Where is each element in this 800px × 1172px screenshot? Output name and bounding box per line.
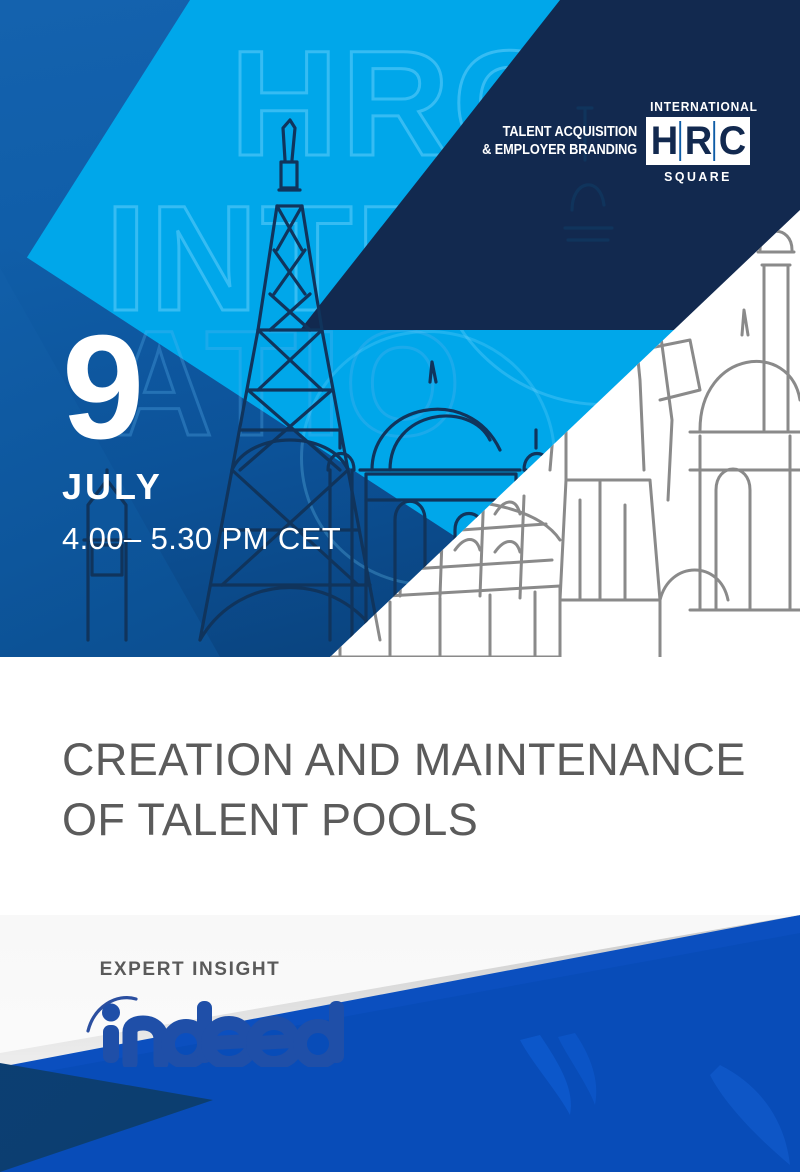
event-poster: HRC INTERN ATIO — [0, 0, 800, 1172]
event-month: JULY — [62, 469, 341, 505]
event-date-block: 9 JULY 4.00– 5.30 PM CET — [62, 330, 341, 554]
logo-tagline: TALENT ACQUISITION & EMPLOYER BRANDING — [482, 124, 637, 159]
event-title: CREATION AND MAINTENANCE OF TALENT POOLS — [62, 730, 752, 850]
event-day-number: 9 — [62, 330, 341, 445]
indeed-logo — [82, 987, 352, 1067]
logo-letter-c: C — [717, 121, 747, 161]
logo-letter-r: R — [683, 121, 715, 161]
logo-international-word: INTERNATIONAL — [650, 100, 746, 113]
hero-banner: HRC INTERN ATIO — [0, 0, 800, 657]
expert-insight-label: EXPERT INSIGHT — [0, 959, 380, 981]
event-time: 4.00– 5.30 PM CET — [62, 523, 341, 554]
footer-section: EXPERT INSIGHT — [0, 915, 800, 1172]
logo-letter-h: H — [649, 121, 681, 161]
title-section: CREATION AND MAINTENANCE OF TALENT POOLS — [0, 657, 800, 915]
hrc-logo-mark: INTERNATIONAL H R C SQUARE — [646, 100, 750, 183]
logo-square-word: SQUARE — [649, 170, 748, 183]
logo-tagline-line1: TALENT ACQUISITION — [482, 124, 637, 142]
hrc-logo-lockup: TALENT ACQUISITION & EMPLOYER BRANDING I… — [461, 100, 750, 183]
logo-tagline-line2: & EMPLOYER BRANDING — [482, 142, 637, 160]
logo-hrc-box: H R C — [646, 117, 750, 165]
